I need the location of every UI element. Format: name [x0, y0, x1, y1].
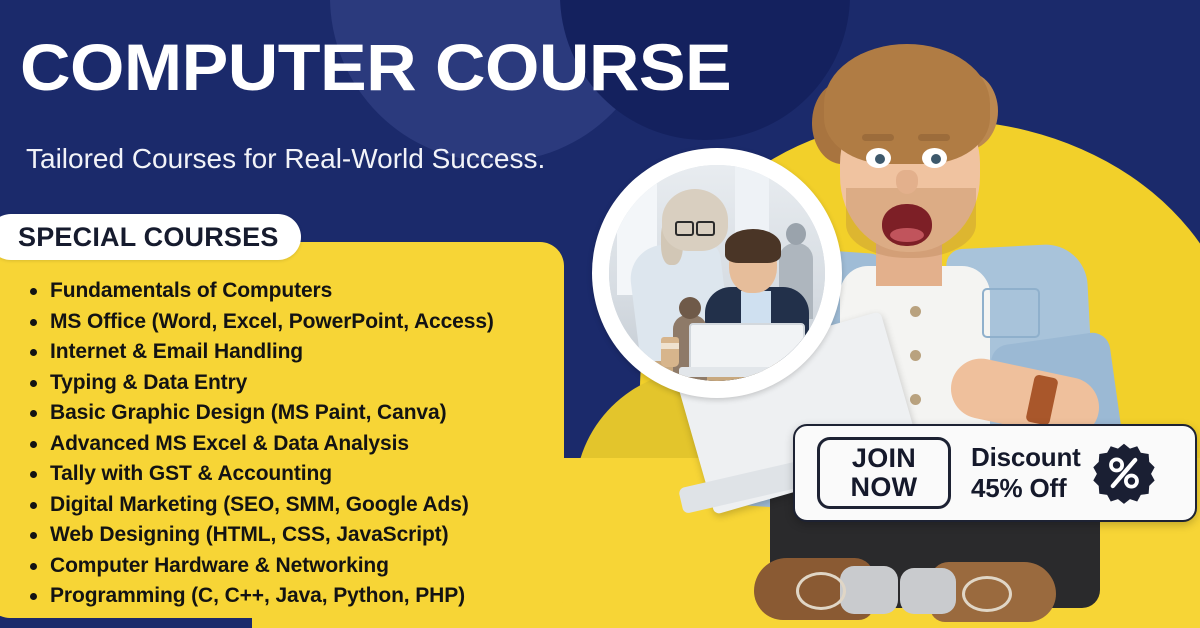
- photo-woman-hair: [662, 189, 728, 251]
- hero-nose: [896, 170, 918, 194]
- hero-lace-left: [796, 572, 846, 610]
- percent-starburst-icon: [1093, 442, 1155, 504]
- list-item: Web Designing (HTML, CSS, JavaScript): [30, 520, 564, 551]
- list-item: Computer Hardware & Networking: [30, 551, 564, 582]
- special-courses-label: SPECIAL COURSES: [18, 222, 279, 253]
- photo-office-scene: [609, 165, 825, 381]
- list-item: Fundamentals of Computers: [30, 276, 564, 307]
- join-now-button[interactable]: JOIN NOW: [817, 437, 951, 509]
- list-item: MS Office (Word, Excel, PowerPoint, Acce…: [30, 307, 564, 338]
- list-item: Basic Graphic Design (MS Paint, Canva): [30, 398, 564, 429]
- page-subtitle: Tailored Courses for Real-World Success.: [26, 140, 545, 178]
- offer-bar: JOIN NOW Discount 45% Off: [793, 424, 1197, 522]
- discount-value: 45% Off: [971, 473, 1081, 504]
- status-badge: SPECIAL COURSES: [0, 214, 301, 260]
- hero-pupil-left: [875, 154, 885, 164]
- list-item: Tally with GST & Accounting: [30, 459, 564, 490]
- hero-sock-right: [900, 568, 956, 614]
- hero-mouth-open: [882, 204, 932, 246]
- hero-button-2: [910, 350, 921, 361]
- photo-laptop-base: [679, 367, 813, 377]
- hero-hair: [824, 44, 990, 164]
- list-item: Internet & Email Handling: [30, 337, 564, 368]
- list-item: Programming (C, C++, Java, Python, PHP): [30, 581, 564, 612]
- join-now-line-1: JOIN: [852, 444, 916, 473]
- hero-button-1: [910, 306, 921, 317]
- hero-shirt-pocket: [982, 288, 1040, 338]
- hero-pupil-right: [931, 154, 941, 164]
- photo-laptop: [689, 323, 805, 373]
- discount-label: Discount: [971, 442, 1081, 473]
- list-item: Digital Marketing (SEO, SMM, Google Ads): [30, 490, 564, 521]
- hero-lace-right: [962, 576, 1012, 612]
- list-item: Advanced MS Excel & Data Analysis: [30, 429, 564, 460]
- join-now-line-2: NOW: [851, 473, 918, 502]
- hero-eyebrow-right: [918, 134, 950, 141]
- photo-circle-frame: [592, 148, 842, 398]
- list-item: Typing & Data Entry: [30, 368, 564, 399]
- photo-woman-glasses: [675, 221, 715, 232]
- photo-coffee-cup: [661, 337, 679, 367]
- promo-banner: COMPUTER COURSE Tailored Courses for Rea…: [0, 0, 1200, 628]
- course-list-card: Fundamentals of Computers MS Office (Wor…: [0, 242, 564, 618]
- course-list: Fundamentals of Computers MS Office (Wor…: [0, 242, 564, 612]
- hero-eyebrow-left: [862, 134, 894, 141]
- hero-sock-left: [840, 566, 898, 614]
- discount-text: Discount 45% Off: [971, 442, 1081, 504]
- photo-man-hair: [725, 229, 781, 263]
- hero-button-3: [910, 394, 921, 405]
